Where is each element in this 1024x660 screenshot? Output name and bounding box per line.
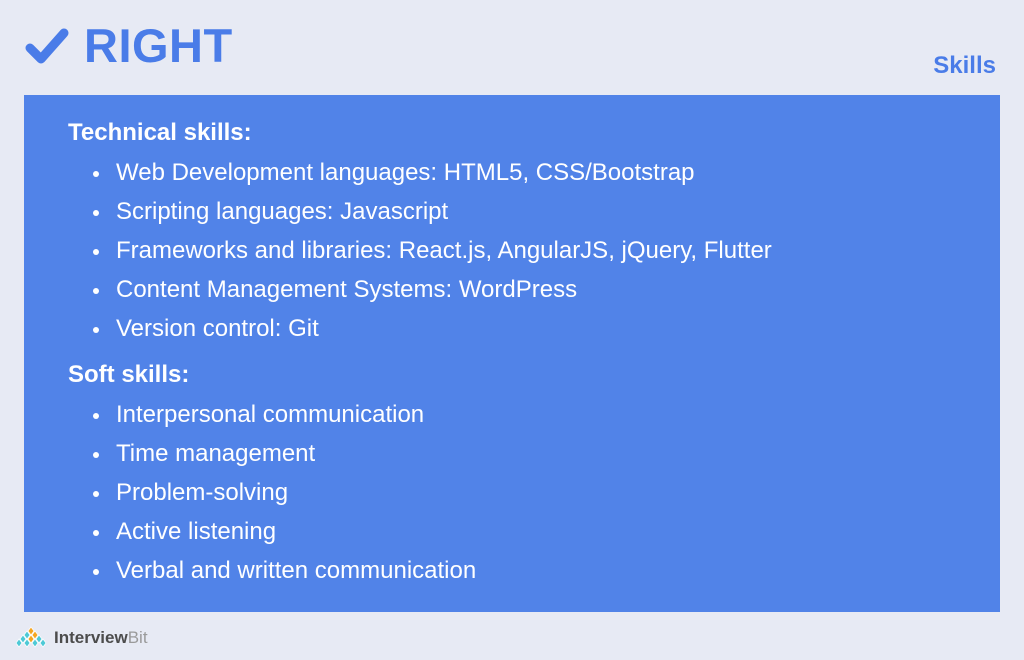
bullet-dot-icon — [93, 530, 99, 536]
group-heading-technical: Technical skills: — [68, 121, 1000, 145]
list-item-label: Interpersonal communication — [116, 401, 424, 428]
slide-header: RIGHT Skills — [0, 0, 1024, 95]
list-item: Problem-solving — [68, 473, 1000, 512]
list-item-label: Verbal and written communication — [116, 557, 476, 584]
bullet-dot-icon — [93, 171, 99, 177]
bullet-dot-icon — [93, 210, 99, 216]
soft-skills-list: Interpersonal communication Time managem… — [68, 395, 1000, 590]
list-item-label: Version control: Git — [116, 315, 319, 342]
brand-wordmark: InterviewBit — [54, 629, 148, 646]
list-item: Active listening — [68, 512, 1000, 551]
brand-primary: Interview — [54, 628, 128, 647]
skills-panel: Technical skills: Web Development langua… — [24, 95, 1000, 612]
bullet-dot-icon — [93, 569, 99, 575]
verdict-title: RIGHT — [84, 22, 233, 69]
list-item-label: Time management — [116, 440, 315, 467]
bullet-dot-icon — [93, 413, 99, 419]
list-item: Web Development languages: HTML5, CSS/Bo… — [68, 153, 1000, 192]
list-item: Verbal and written communication — [68, 551, 1000, 590]
list-item-label: Content Management Systems: WordPress — [116, 276, 577, 303]
list-item: Scripting languages: Javascript — [68, 192, 1000, 231]
bullet-dot-icon — [93, 452, 99, 458]
group-heading-soft: Soft skills: — [68, 363, 1000, 387]
list-item: Frameworks and libraries: React.js, Angu… — [68, 231, 1000, 270]
bullet-dot-icon — [93, 249, 99, 255]
skill-group-soft: Soft skills: Interpersonal communication… — [68, 363, 1000, 590]
bullet-dot-icon — [93, 288, 99, 294]
verdict-block: RIGHT — [24, 22, 233, 69]
technical-skills-list: Web Development languages: HTML5, CSS/Bo… — [68, 153, 1000, 348]
list-item-label: Scripting languages: Javascript — [116, 198, 448, 225]
bullet-dot-icon — [93, 491, 99, 497]
check-icon — [24, 24, 70, 68]
bullet-dot-icon — [93, 327, 99, 333]
list-item: Version control: Git — [68, 309, 1000, 348]
section-tag: Skills — [933, 54, 996, 78]
list-item-label: Frameworks and libraries: React.js, Angu… — [116, 237, 772, 264]
brand-secondary: Bit — [128, 628, 148, 647]
skill-group-technical: Technical skills: Web Development langua… — [68, 121, 1000, 348]
list-item-label: Active listening — [116, 518, 276, 545]
list-item: Content Management Systems: WordPress — [68, 270, 1000, 309]
list-item-label: Web Development languages: HTML5, CSS/Bo… — [116, 159, 695, 186]
footer-branding: InterviewBit — [16, 626, 148, 648]
list-item: Time management — [68, 434, 1000, 473]
list-item: Interpersonal communication — [68, 395, 1000, 434]
list-item-label: Problem-solving — [116, 479, 288, 506]
interviewbit-triangle-logo-icon — [16, 626, 46, 648]
